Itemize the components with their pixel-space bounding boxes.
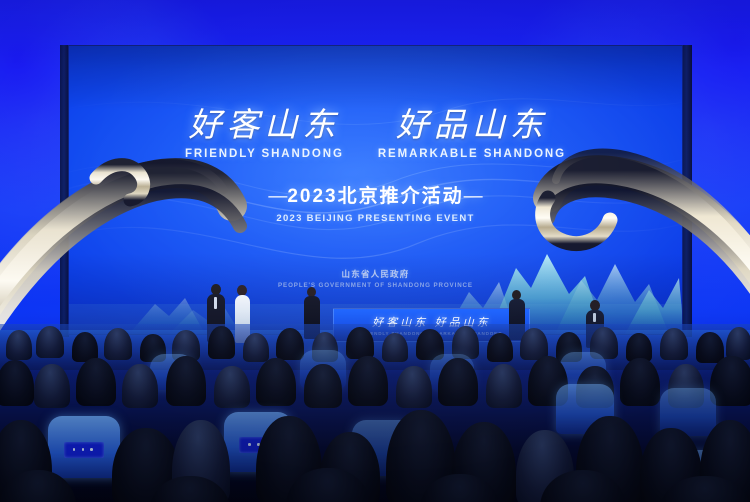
- event-title-cn: —2023北京推介活动—: [69, 181, 682, 208]
- list-item: [208, 326, 235, 359]
- slogan-friendly-shandong: 好客山东 FRIENDLY SHANDONG: [185, 108, 344, 160]
- screen-headline-block: 好客山东 FRIENDLY SHANDONG 好品山东 REMARKABLE S…: [69, 108, 682, 224]
- list-item: [76, 358, 116, 406]
- list-item: [256, 358, 296, 406]
- list-item: [304, 364, 342, 408]
- list-item: [487, 333, 513, 362]
- list-item: [346, 327, 374, 359]
- list-item: [620, 358, 660, 406]
- list-item: [276, 328, 304, 360]
- slogan-cn-remarkable: 好品山东: [378, 108, 566, 143]
- audience-area: [0, 324, 750, 502]
- event-title-block: —2023北京推介活动— 2023 BEIJING PRESENTING EVE…: [69, 181, 682, 224]
- attendee-right-tie: [593, 313, 596, 322]
- list-item: [486, 364, 522, 408]
- slogan-en-friendly: FRIENDLY SHANDONG: [185, 148, 344, 160]
- list-item: [438, 358, 478, 406]
- list-item: [243, 333, 269, 362]
- audience-chair: [48, 416, 120, 478]
- slogan-en-remarkable: REMARKABLE SHANDONG: [378, 148, 566, 160]
- list-item: [660, 328, 688, 360]
- list-item: [382, 333, 408, 362]
- event-dash-right: —: [464, 186, 483, 207]
- event-title-cn-text: 2023北京推介活动: [287, 186, 463, 207]
- slogan-cn-friendly: 好客山东: [185, 108, 344, 143]
- host-male-shirt: [214, 297, 217, 309]
- chair-logo-patch: [64, 442, 104, 458]
- list-item: [696, 332, 724, 363]
- list-item: [36, 326, 64, 358]
- list-item: [520, 328, 548, 360]
- main-led-screen: 好客山东 FRIENDLY SHANDONG 好品山东 REMARKABLE S…: [68, 45, 683, 335]
- list-item: [214, 366, 250, 408]
- stage-pillar-right: [682, 45, 692, 337]
- event-photo: 好客山东 FRIENDLY SHANDONG 好品山东 REMARKABLE S…: [0, 0, 750, 502]
- event-title-en: 2023 BEIJING PRESENTING EVENT: [69, 213, 682, 224]
- list-item: [34, 364, 70, 408]
- list-item: [104, 328, 132, 360]
- list-item: [122, 364, 158, 408]
- list-item: [396, 366, 432, 408]
- list-item: [348, 356, 388, 406]
- list-item: [166, 356, 206, 406]
- list-item: [6, 330, 32, 360]
- slogan-remarkable-shandong: 好品山东 REMARKABLE SHANDONG: [378, 108, 566, 160]
- list-item: [710, 356, 750, 406]
- slogan-row: 好客山东 FRIENDLY SHANDONG 好品山东 REMARKABLE S…: [69, 108, 682, 160]
- event-dash-left: —: [268, 186, 287, 207]
